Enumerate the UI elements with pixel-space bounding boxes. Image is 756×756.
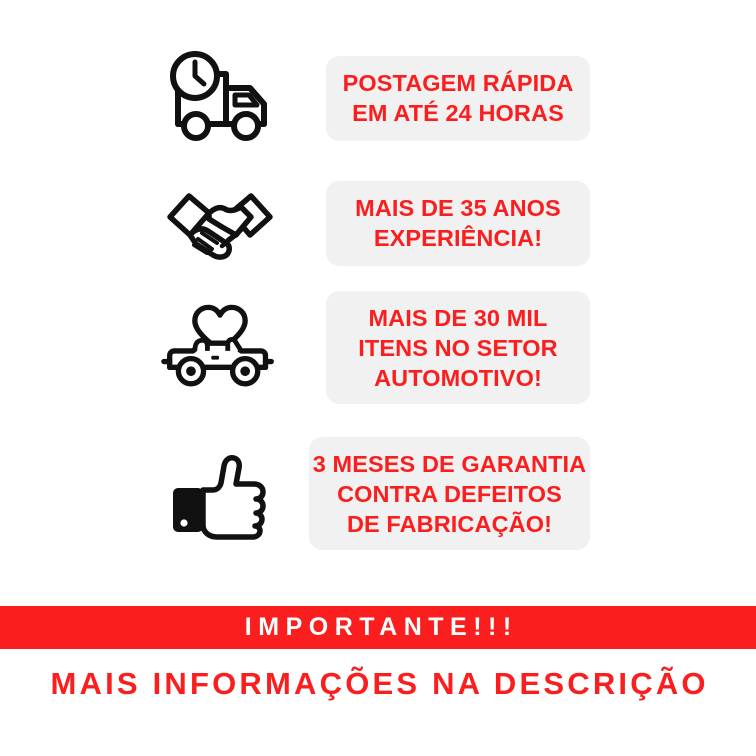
description-callout-label: MAIS INFORMAÇÕES NA DESCRIÇÃO (47, 666, 708, 702)
feature-line: DE FABRICAÇÃO! (347, 509, 552, 539)
promo-banner-page: POSTAGEM RÁPIDA EM ATÉ 24 HORAS (0, 0, 756, 756)
feature-line: 3 MESES DE GARANTIA (313, 449, 587, 479)
thumbs-up-icon (160, 444, 280, 544)
feature-line: EXPERIÊNCIA! (374, 223, 542, 253)
feature-line: MAIS DE 35 ANOS (355, 193, 561, 223)
feature-line: AUTOMOTIVO! (374, 363, 542, 393)
feature-line: ITENS NO SETOR (358, 333, 557, 363)
feature-pill-shipping: POSTAGEM RÁPIDA EM ATÉ 24 HORAS (326, 56, 590, 141)
delivery-truck-clock-icon (160, 48, 280, 148)
feature-row-warranty: 3 MESES DE GARANTIA CONTRA DEFEITOS DE F… (160, 437, 590, 550)
feature-row-catalog: MAIS DE 30 MIL ITENS NO SETOR AUTOMOTIVO… (160, 291, 590, 404)
important-banner-label: IMPORTANTE!!! (238, 613, 517, 642)
description-callout: MAIS INFORMAÇÕES NA DESCRIÇÃO (0, 655, 756, 713)
feature-pill-experience: MAIS DE 35 ANOS EXPERIÊNCIA! (326, 181, 590, 266)
feature-line: EM ATÉ 24 HORAS (352, 98, 564, 128)
feature-pill-warranty: 3 MESES DE GARANTIA CONTRA DEFEITOS DE F… (309, 437, 590, 550)
car-heart-icon (160, 298, 280, 398)
feature-row-experience: MAIS DE 35 ANOS EXPERIÊNCIA! (160, 173, 590, 273)
feature-line: MAIS DE 30 MIL (369, 303, 548, 333)
feature-pill-catalog: MAIS DE 30 MIL ITENS NO SETOR AUTOMOTIVO… (326, 291, 590, 404)
feature-line: CONTRA DEFEITOS (337, 479, 562, 509)
important-banner: IMPORTANTE!!! (0, 606, 756, 649)
handshake-icon (160, 173, 280, 273)
feature-list: POSTAGEM RÁPIDA EM ATÉ 24 HORAS (0, 0, 756, 596)
feature-row-shipping: POSTAGEM RÁPIDA EM ATÉ 24 HORAS (160, 48, 590, 148)
feature-line: POSTAGEM RÁPIDA (343, 68, 574, 98)
